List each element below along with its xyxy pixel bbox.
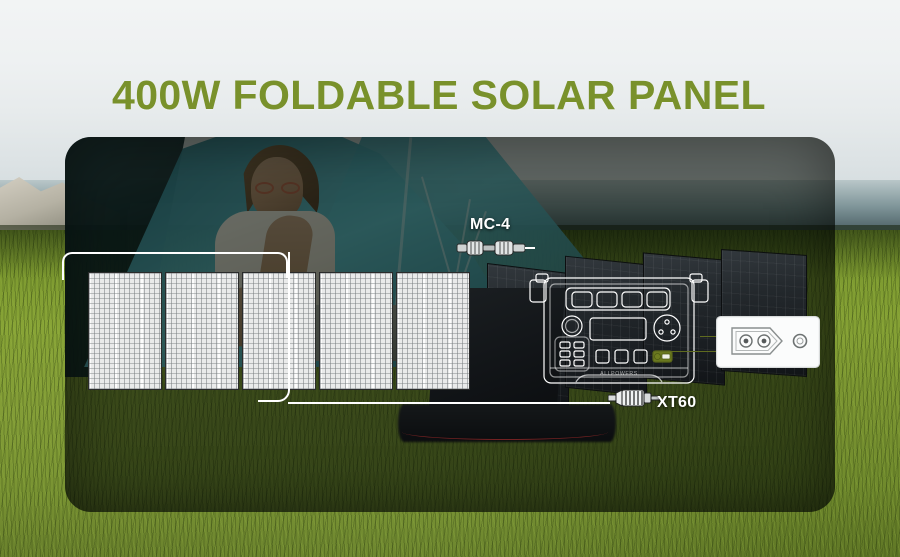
xt60-label: XT60 [657, 394, 696, 412]
ground-wire [402, 424, 608, 440]
mc4-connector-icon [455, 238, 535, 258]
adapter-box-illustration [716, 316, 820, 368]
cable-down-to-station [258, 252, 290, 402]
power-station-brand: ALLPOWERS [600, 371, 638, 377]
solar-panel-back-2 [165, 272, 239, 390]
solar-panel-back-1 [88, 272, 162, 390]
solar-panel-back-4 [319, 272, 393, 390]
mc4-label: MC-4 [470, 216, 510, 234]
page-title: 400W FOLDABLE SOLAR PANEL [112, 72, 812, 119]
solar-panel-back-5 [396, 272, 470, 390]
banner-stage: 400W FOLDABLE SOLAR PANEL [0, 0, 900, 557]
power-station-illustration: ALLPOWERS [528, 268, 710, 393]
cable-panel-to-mc4 [62, 252, 258, 280]
